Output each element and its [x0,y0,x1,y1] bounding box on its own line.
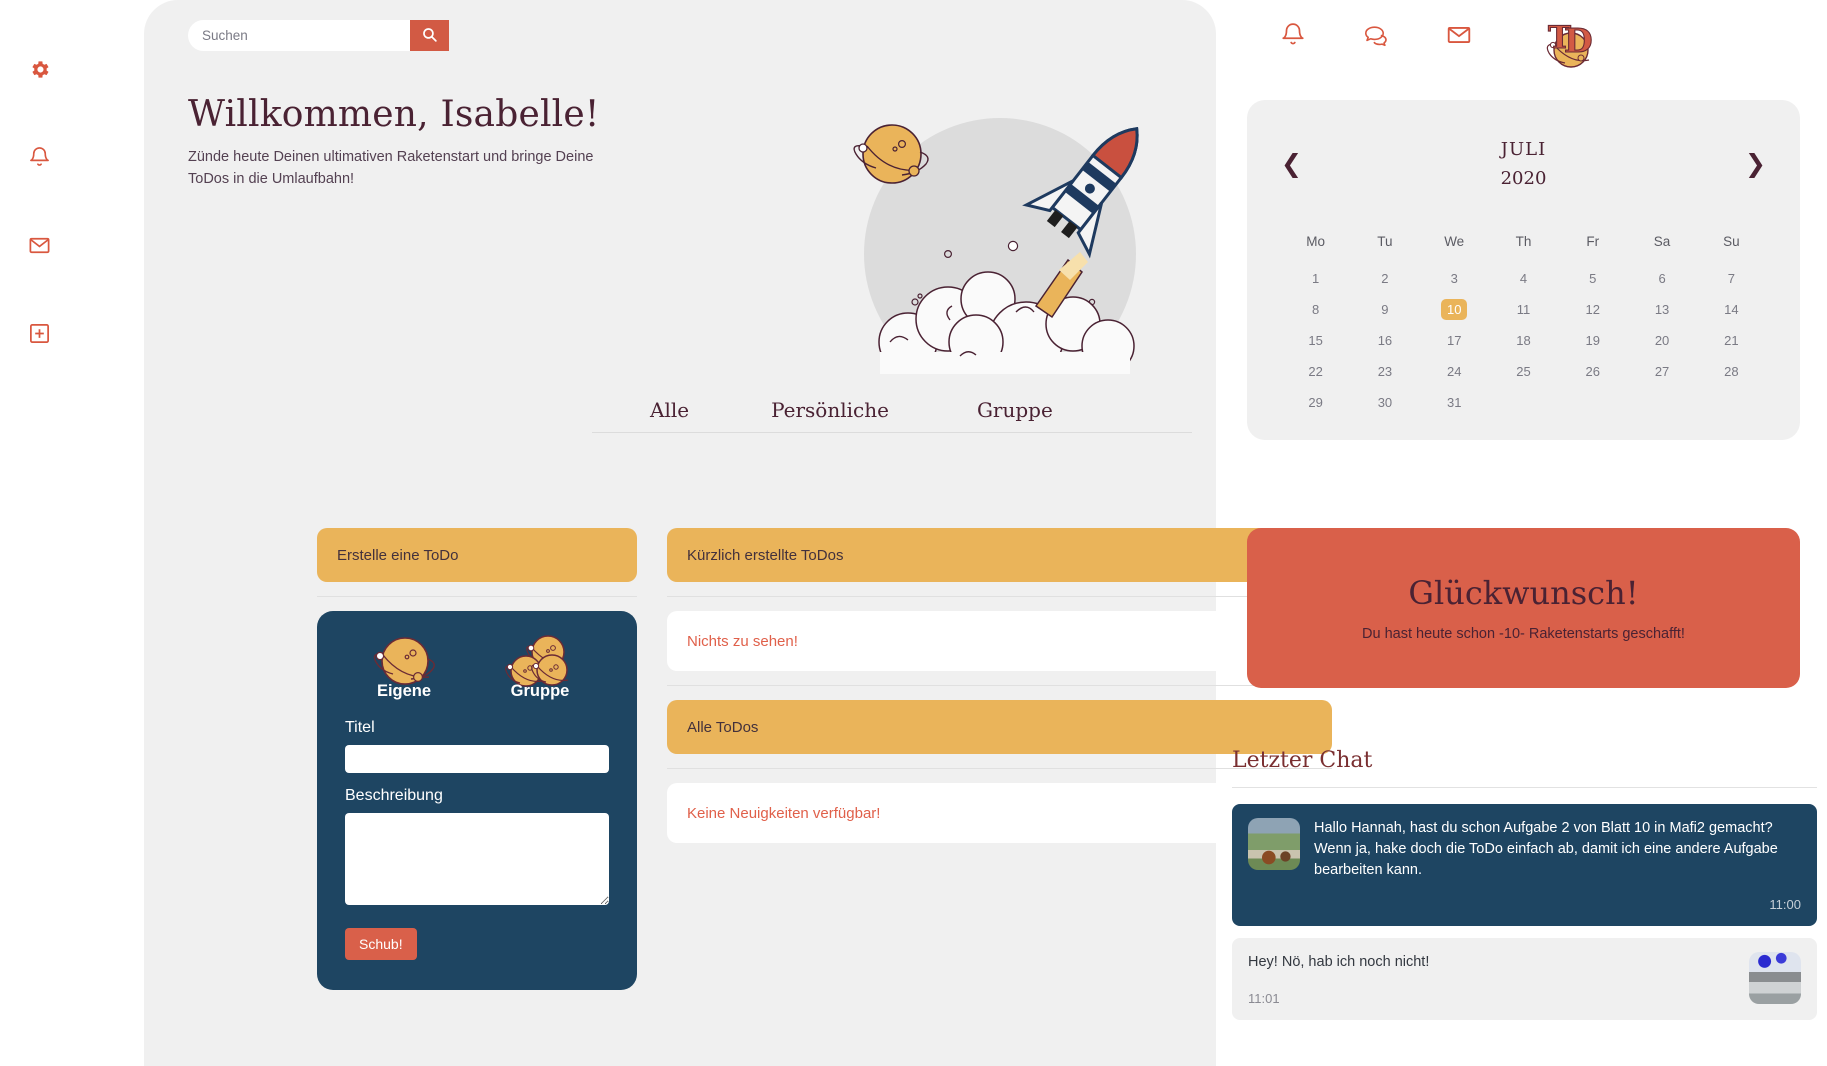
calendar-year: 2020 [1501,168,1547,189]
calendar-day[interactable]: 25 [1489,356,1558,387]
chat-message-time: 11:00 [1314,897,1801,912]
description-input[interactable] [345,813,609,905]
title-label: Titel [345,719,609,737]
calendar-day[interactable]: 7 [1697,263,1766,294]
recent-todos-empty: Nichts zu sehen! [667,611,1332,671]
tab-persoenliche[interactable]: Persönliche [753,398,907,422]
calendar-day[interactable]: 5 [1558,263,1627,294]
calendar-day[interactable]: 24 [1420,356,1489,387]
todo-filter-tabs: Alle Persönliche Gruppe [592,398,1192,433]
chat-message-body: Hey! Nö, hab ich noch nicht! 11:01 [1248,952,1735,1006]
chat-bubbles-icon [1363,22,1389,48]
envelope-icon [1446,22,1472,48]
search-button[interactable] [410,20,449,51]
tab-gruppe[interactable]: Gruppe [959,398,1071,422]
segment-eigene-label: Eigene [377,682,431,705]
calendar-prev-button[interactable]: ❮ [1281,152,1302,177]
calendar-weekday: Sa [1627,228,1696,263]
submit-button[interactable]: Schub! [345,928,417,960]
create-todo-form: Eigene [317,611,637,990]
calendar-weekday: We [1420,228,1489,263]
rocket-launch-illustration [830,74,1160,374]
rail-item-notifications[interactable] [14,132,64,182]
calendar-day[interactable]: 8 [1281,294,1350,325]
chat-message-outgoing[interactable]: Hey! Nö, hab ich noch nicht! 11:01 [1232,938,1817,1020]
calendar-widget: ❮ JULI 2020 ❯ MoTuWeThFrSaSu123456789101… [1247,100,1800,440]
calendar-next-button[interactable]: ❯ [1745,152,1766,177]
topbar-mail[interactable] [1446,22,1472,48]
chat-message-text: Hey! Nö, hab ich noch nicht! [1248,952,1735,973]
create-todo-header[interactable]: Erstelle eine ToDo [317,528,637,582]
congrats-card: Glückwunsch! Du hast heute schon -10- Ra… [1247,528,1800,688]
topbar-chats[interactable] [1363,22,1389,48]
calendar-day[interactable]: 23 [1350,356,1419,387]
divider [667,685,1332,686]
calendar-day[interactable]: 18 [1489,325,1558,356]
bell-icon [28,146,51,169]
calendar-day[interactable]: 6 [1627,263,1696,294]
left-icon-rail [0,0,144,1066]
avatar [1749,952,1801,1004]
divider [1232,787,1817,788]
segment-gruppe[interactable]: Gruppe [481,633,599,705]
last-chat-section: Letzter Chat Hallo Hannah, hast du schon… [1232,748,1817,1020]
create-todo-column: Erstelle eine ToDo [317,528,637,990]
calendar-day[interactable]: 15 [1281,325,1350,356]
calendar-day[interactable]: 29 [1281,387,1350,418]
calendar-day[interactable]: 27 [1627,356,1696,387]
calendar-title: JULI 2020 [1501,139,1547,189]
search-input[interactable] [188,20,410,51]
chat-section-title: Letzter Chat [1232,748,1817,773]
calendar-day[interactable]: 13 [1627,294,1696,325]
calendar-weekday: Su [1697,228,1766,263]
hero-section: Willkommen, Isabelle! Zünde heute Deinen… [188,94,1178,394]
search-icon [421,26,438,46]
calendar-day[interactable]: 14 [1697,294,1766,325]
congrats-subtitle: Du hast heute schon -10- Raketenstarts g… [1362,626,1685,642]
calendar-day[interactable]: 1 [1281,263,1350,294]
calendar-month: JULI [1501,139,1547,160]
calendar-weekday: Mo [1281,228,1350,263]
avatar [1248,818,1300,870]
top-icon-bar [1280,22,1500,48]
chat-message-time: 11:01 [1248,991,1735,1006]
calendar-day[interactable]: 19 [1558,325,1627,356]
bell-icon [1280,22,1306,48]
chat-message-incoming[interactable]: Hallo Hannah, hast du schon Aufgabe 2 vo… [1232,804,1817,926]
calendar-day-today[interactable]: 10 [1420,294,1489,325]
svg-text:D: D [1564,21,1593,60]
plus-square-icon [28,322,51,345]
calendar-day[interactable]: 9 [1350,294,1419,325]
chat-message-text: Hallo Hannah, hast du schon Aufgabe 2 vo… [1314,818,1801,881]
congrats-title: Glückwunsch! [1408,574,1638,612]
calendar-weekday: Fr [1558,228,1627,263]
all-todos-header[interactable]: Alle ToDos [667,700,1332,754]
gear-icon [28,58,51,81]
divider [667,596,1332,597]
calendar-day[interactable]: 21 [1697,325,1766,356]
calendar-day[interactable]: 20 [1627,325,1696,356]
topbar-notifications[interactable] [1280,22,1306,48]
calendar-day[interactable]: 4 [1489,263,1558,294]
tab-alle[interactable]: Alle [632,398,707,422]
calendar-day[interactable]: 28 [1697,356,1766,387]
title-input[interactable] [345,745,609,773]
hero-subtitle: Zünde heute Deinen ultimativen Raketenst… [188,147,618,191]
calendar-day[interactable]: 12 [1558,294,1627,325]
todo-type-segments: Eigene [345,633,609,705]
recent-todos-header[interactable]: Kürzlich erstellte ToDos [667,528,1332,582]
app-root: Willkommen, Isabelle! Zünde heute Deinen… [0,0,1827,1066]
calendar-day[interactable]: 26 [1558,356,1627,387]
calendar-day[interactable]: 3 [1420,263,1489,294]
calendar-day[interactable]: 2 [1350,263,1419,294]
calendar-day[interactable]: 30 [1350,387,1419,418]
calendar-day[interactable]: 16 [1350,325,1419,356]
calendar-day[interactable]: 22 [1281,356,1350,387]
divider [317,596,637,597]
rail-item-add[interactable] [14,308,64,358]
rail-item-settings[interactable] [14,44,64,94]
calendar-weekday: Th [1489,228,1558,263]
search-bar [188,20,449,51]
calendar-day[interactable]: 11 [1489,294,1558,325]
segment-gruppe-label: Gruppe [511,682,570,705]
chat-message-body: Hallo Hannah, hast du schon Aufgabe 2 vo… [1314,818,1801,912]
calendar-weekday: Tu [1350,228,1419,263]
rail-item-messages[interactable] [14,220,64,270]
main-panel: Willkommen, Isabelle! Zünde heute Deinen… [144,0,1216,1066]
calendar-grid: MoTuWeThFrSaSu12345678910111213141516171… [1281,228,1766,418]
segment-eigene[interactable]: Eigene [345,633,463,705]
envelope-icon [28,234,51,257]
calendar-day[interactable]: 31 [1420,387,1489,418]
calendar-day[interactable]: 17 [1420,325,1489,356]
todo-planet-logo[interactable]: T D [1538,14,1600,70]
calendar-header: ❮ JULI 2020 ❯ [1281,122,1766,206]
description-label: Beschreibung [345,787,609,805]
